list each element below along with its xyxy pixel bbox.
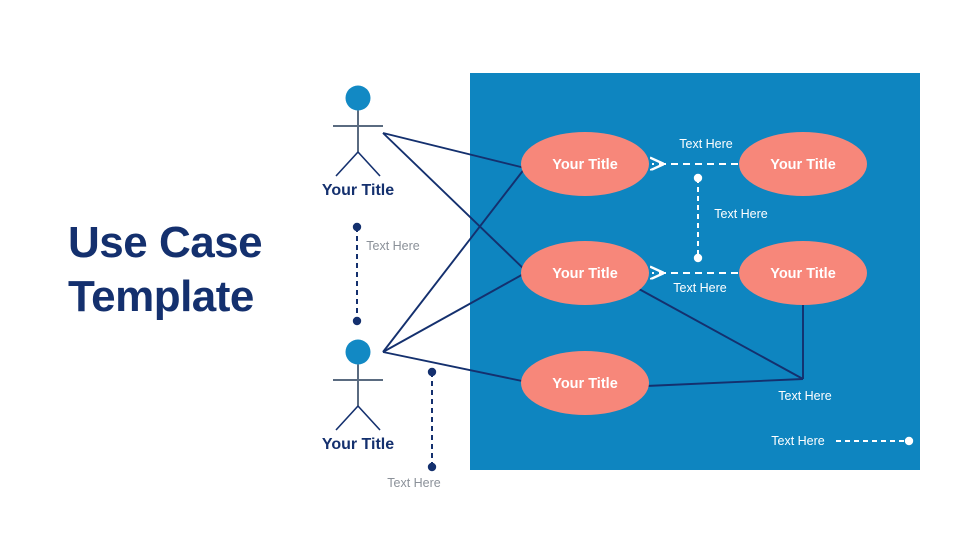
actor-leg-right xyxy=(358,152,380,176)
use-case-node[interactable]: Your Title xyxy=(739,241,867,305)
relationship-label: Text Here xyxy=(673,281,727,295)
relationship-label: Text Here xyxy=(714,207,768,221)
relationship-label: Text Here xyxy=(679,137,733,151)
actor-leg-left xyxy=(336,406,358,430)
actor-head-icon xyxy=(346,340,371,365)
use-case-label: Your Title xyxy=(552,266,618,282)
use-case-label: Your Title xyxy=(770,157,836,173)
connector-endpoint-dot xyxy=(353,223,361,231)
use-case-label: Your Title xyxy=(552,157,618,173)
use-case-label: Your Title xyxy=(552,376,618,392)
actor-leg-left xyxy=(336,152,358,176)
slide-canvas: Use Case Template Your TitleYour TitleYo… xyxy=(0,0,980,551)
connector-endpoint-dot xyxy=(905,437,913,445)
connector-endpoint-dot xyxy=(694,254,702,262)
relationship-label: Text Here xyxy=(778,389,832,403)
use-case-node[interactable]: Your Title xyxy=(521,351,649,415)
actor-node[interactable]: Your Title xyxy=(322,86,394,200)
connector-endpoint-dot xyxy=(694,174,702,182)
connector-endpoint-dot xyxy=(353,317,361,325)
use-case-node[interactable]: Your Title xyxy=(521,132,649,196)
actor-node[interactable]: Your Title xyxy=(322,340,394,454)
use-case-node[interactable]: Your Title xyxy=(739,132,867,196)
relationship-label: Text Here xyxy=(771,434,825,448)
use-case-node[interactable]: Your Title xyxy=(521,241,649,305)
connector-endpoint-dot xyxy=(428,463,436,471)
relationship-label: Text Here xyxy=(387,476,441,490)
actor-head-icon xyxy=(346,86,371,111)
actor-label: Your Title xyxy=(322,436,394,453)
actor-leg-right xyxy=(358,406,380,430)
connector-endpoint-dot xyxy=(428,368,436,376)
actor-group: Your TitleYour Title xyxy=(322,86,394,454)
relationship-label: Text Here xyxy=(366,239,420,253)
use-case-diagram: Your TitleYour TitleYour TitleYour Title… xyxy=(0,0,980,551)
use-case-label: Your Title xyxy=(770,266,836,282)
actor-label: Your Title xyxy=(322,182,394,199)
